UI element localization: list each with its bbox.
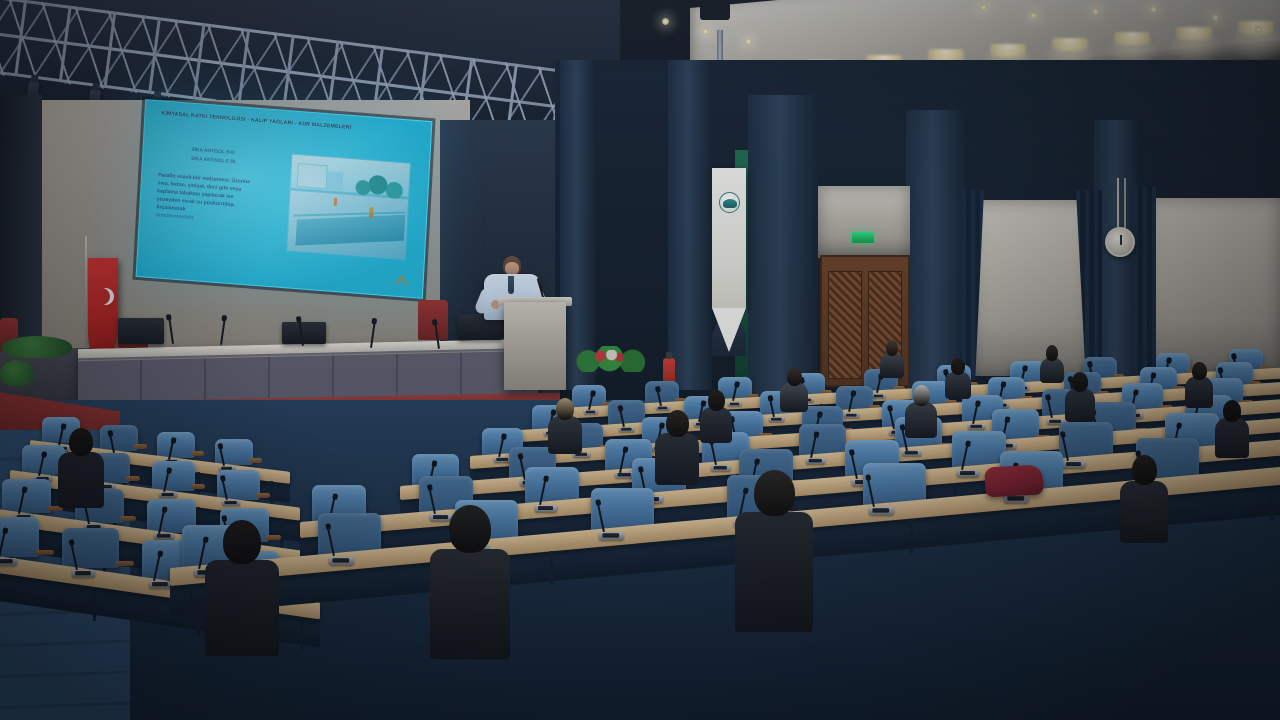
speaker-tie [508,276,514,294]
desk-leg [910,519,913,553]
person-body [430,549,510,659]
attendee-row2-mid [655,410,699,489]
desk-microphone-console[interactable] [769,417,784,422]
wall-panel-alcove [972,200,1090,376]
person-body [1120,481,1168,543]
pilaster-2 [668,60,712,390]
person-head [666,410,689,437]
person-head [951,358,965,375]
person-body [735,512,813,632]
person-head [556,398,574,420]
desk-microphone-console[interactable] [957,470,979,477]
clock-rod-1 [1117,178,1119,230]
desk-leg [1270,486,1273,520]
desk-microphone-console[interactable] [902,450,921,456]
desk-microphone-console[interactable] [72,570,95,577]
ceiling-downlight [1255,26,1262,33]
seat-armrest [134,444,147,449]
person-body [548,416,582,454]
attendee-row4-c [1185,362,1213,412]
desk-leg [550,551,553,585]
attendee-rear-b [880,340,904,382]
attendee-row3-a [548,398,582,458]
seat-armrest [120,516,136,521]
drape-far-right [1134,186,1156,376]
audience-seat[interactable] [100,425,138,451]
attendee-front-left [205,520,279,660]
person-body [655,433,699,485]
ceiling-downlight [702,28,709,35]
person-head [1223,400,1241,422]
person-head [69,428,93,456]
person-body [1065,388,1095,422]
attendee-row3-d [1065,372,1095,426]
ceiling-downlight [1150,6,1157,13]
head-table-monitor-2 [282,322,326,344]
seat-armrest [249,458,262,463]
desk-microphone-console[interactable] [869,507,894,515]
banner-logo-icon [719,192,740,213]
desk-microphone-console[interactable] [584,410,598,414]
head-table-monitor-1 [118,318,164,344]
person-body [905,402,937,438]
desk-microphone-console[interactable] [159,492,177,498]
desk-leg [300,617,303,651]
projection-screen: KİMYASAL KATKI TEKNOLOJİSİ - KALIP YAĞLA… [136,99,433,299]
audience-seat[interactable] [0,517,39,557]
attendee-row3-c [905,385,937,442]
attendee-front-right [735,470,813,636]
red-jacket-on-desk [984,465,1043,498]
attendee-row3-b [700,390,732,447]
attendee-row2-left [58,428,104,512]
person-head [886,340,898,356]
person-head [1132,455,1157,485]
attendee-rear-a [1040,345,1064,387]
turkish-flag [88,258,118,354]
flagpole [85,236,87,358]
stage-plant-left-2 [0,360,34,386]
desk-microphone-console[interactable] [844,413,859,418]
person-head [1192,362,1207,380]
seat-armrest [256,493,270,498]
clock-rod-2 [1124,178,1126,230]
person-head [708,390,725,411]
wall-panel-right [1146,198,1280,374]
ceiling-downlight [745,38,752,45]
seat-armrest [115,561,134,566]
person-body [1215,418,1249,458]
desk-leg [190,584,193,618]
desk-leg [93,587,96,621]
seat-armrest [191,484,205,489]
desk-microphone-console[interactable] [222,500,240,506]
desk-microphone-console[interactable] [0,558,17,565]
desk-microphone-console[interactable] [149,581,172,588]
exit-sign-icon [852,232,874,243]
ceiling-downlight [662,18,669,25]
desk-microphone-console[interactable] [806,458,825,464]
desk-microphone-console[interactable] [1063,461,1085,468]
institutional-vertical-banner [712,168,746,308]
person-body [58,452,104,508]
attendee-front-center [430,505,510,663]
desk-microphone-console[interactable] [535,505,557,512]
pilaster-4 [906,110,966,400]
ceiling-speaker [700,2,730,20]
pilaster-3 [748,95,818,395]
audience-seat[interactable] [157,432,195,458]
attendee-row4-b [945,358,971,403]
flag-crescent-icon [93,288,110,305]
desk-microphone-console[interactable] [154,533,174,539]
desk-microphone-console[interactable] [599,532,624,540]
seat-armrest [35,550,54,555]
person-head [754,470,795,516]
wall-panel-left [818,186,910,258]
person-head [1072,372,1088,392]
audience-seat[interactable] [152,461,195,491]
person-head [787,368,802,386]
person-body [700,407,732,443]
door-panel-left [828,271,862,379]
stage-plant-left [2,336,72,358]
person-head [1046,345,1058,361]
ceiling-downlight [980,4,987,11]
attendee-row2-right [1120,455,1168,547]
seat-armrest [126,476,140,481]
person-body [1185,376,1213,408]
person-body [945,371,971,399]
attendee-row4-a [780,368,808,416]
desk-microphone-console[interactable] [711,465,730,471]
screen-frame [132,96,435,302]
person-head [913,385,930,406]
floral-arrangement [575,346,647,372]
audience-seat[interactable] [2,479,51,513]
ceiling-downlight [1030,12,1037,19]
person-body [780,382,808,412]
person-body [205,560,279,656]
desk-microphone-console[interactable] [968,424,985,429]
wall-clock [1105,227,1135,257]
desk-microphone-console[interactable] [872,394,886,398]
person-head [223,520,261,564]
person-head [449,505,491,553]
auditorium-scene: KİMYASAL KATKI TEKNOLOJİSİ - KALIP YAĞLA… [0,0,1280,720]
desk-microphone-console[interactable] [329,557,354,565]
ceiling-downlight [1092,8,1099,15]
seat-armrest [191,451,204,456]
ceiling-downlight [1212,14,1219,21]
speaker-podium [504,302,566,390]
desk-microphone-console[interactable] [619,427,634,432]
attendee-row5-a [1215,400,1249,462]
